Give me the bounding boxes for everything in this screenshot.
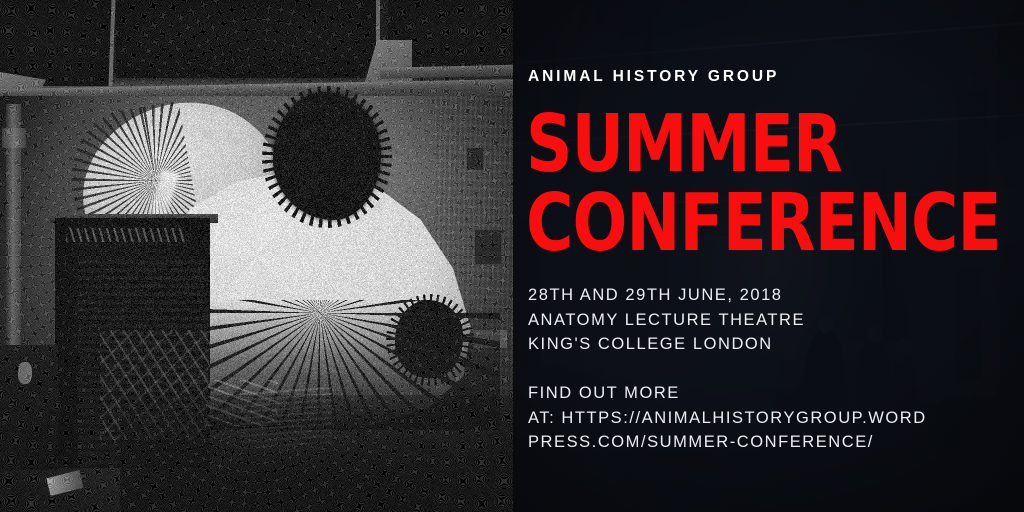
event-venue: ANATOMY LECTURE THEATRE — [528, 308, 805, 333]
find-out-more-label: FIND OUT MORE — [528, 381, 927, 406]
event-details: 28TH AND 29TH JUNE, 2018 ANATOMY LECTURE… — [528, 283, 805, 357]
event-date: 28TH AND 29TH JUNE, 2018 — [528, 283, 805, 308]
conference-poster: ANIMAL HISTORY GROUP SUMMER CONFERENCE 2… — [0, 0, 1024, 512]
title-line-1: SUMMER — [526, 113, 842, 177]
box-marking — [18, 362, 32, 384]
title-line-2: CONFERENCE — [526, 192, 1001, 256]
find-out-more-block: FIND OUT MORE AT: HTTPS://ANIMALHISTORYG… — [528, 381, 927, 455]
panda-head — [273, 92, 381, 220]
lower-shadow — [120, 395, 513, 512]
drainpipe-collar — [2, 128, 26, 148]
window-pane — [116, 0, 380, 78]
alley-photo-panel: ANIMAL HISTORY GROUP SUMMER CONFERENCE 2… — [513, 0, 1024, 512]
event-institution: KING'S COLLEGE LONDON — [528, 332, 805, 357]
conference-url-part-2[interactable]: PRESS.COM/SUMMER-CONFERENCE/ — [528, 430, 927, 455]
wall-patch — [467, 148, 483, 170]
poster-text-content: ANIMAL HISTORY GROUP SUMMER CONFERENCE 2… — [528, 0, 1024, 512]
organisation-name: ANIMAL HISTORY GROUP — [528, 68, 779, 86]
graffiti-tag — [66, 228, 186, 242]
conference-url-part-1[interactable]: AT: HTTPS://ANIMALHISTORYGROUP.WORD — [528, 406, 927, 431]
wall-patch — [475, 230, 501, 264]
upper-window-band — [0, 0, 513, 100]
window-pane — [0, 0, 116, 86]
panda-mural-photo — [0, 0, 513, 512]
lintel — [380, 64, 513, 79]
